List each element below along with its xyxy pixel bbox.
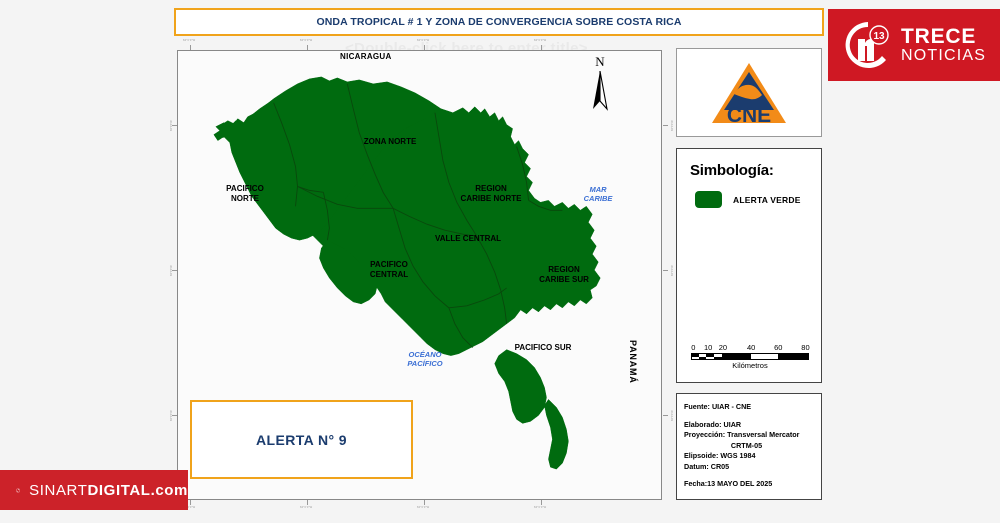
- credits-elaborado: Elaborado: UIAR: [684, 420, 815, 431]
- label-panama: PANAMÁ: [628, 340, 638, 384]
- trece-noticias-logo[interactable]: 13 TRECE NOTICIAS: [828, 9, 1000, 81]
- map-axis-tick-right: [663, 270, 668, 271]
- map-scalebar: 0 10 20 40 60 80 Kilómetros: [691, 343, 809, 370]
- map-axis-label-bottom: 84°0'0"W: [534, 506, 546, 509]
- credits-proyeccion: Proyección: Transversal Mercator: [684, 430, 815, 441]
- scalebar-bar: [691, 353, 809, 360]
- scalebar-unit-label: Kilómetros: [691, 361, 809, 370]
- map-axis-tick-bottom: [190, 500, 191, 505]
- map-axis-label-top: 84°0'0"W: [534, 39, 546, 42]
- label-pacifico-central: PACIFICO CENTRAL: [356, 260, 422, 280]
- sinart-wordmark: SINARTDIGITAL.com: [29, 482, 188, 499]
- cne-triangle-icon: CNE: [710, 60, 788, 126]
- north-arrow: N: [585, 55, 615, 111]
- sinart-swirl-icon: [16, 478, 20, 503]
- sinart-part1: SINART: [29, 482, 87, 499]
- sinart-digital-logo[interactable]: SINARTDIGITAL.com: [0, 470, 188, 510]
- map-axis-tick-bottom: [424, 500, 425, 505]
- map-axis-label-left: 84°0'0"W: [170, 265, 173, 276]
- legend-swatch-alerta-verde: [695, 191, 722, 208]
- trece-noticias-wordmark: TRECE NOTICIAS: [901, 26, 986, 64]
- map-axis-label-bottom: 84°0'0"W: [300, 506, 312, 509]
- scalebar-tick: 60: [774, 343, 782, 352]
- label-nicaragua: NICARAGUA: [340, 52, 392, 61]
- map-axis-tick-right: [663, 125, 668, 126]
- map-title-banner: ONDA TROPICAL # 1 Y ZONA DE CONVERGENCIA…: [174, 8, 824, 36]
- scalebar-tick-labels: 0 10 20 40 60 80: [691, 343, 809, 353]
- scalebar-tick: 0: [691, 343, 695, 352]
- credits-fecha: Fecha:13 MAYO DEL 2025: [684, 479, 815, 490]
- svg-text:13: 13: [873, 31, 885, 42]
- map-axis-label-right: 84°0'0"W: [671, 265, 674, 276]
- map-axis-tick-right: [663, 415, 668, 416]
- scalebar-tick: 20: [719, 343, 727, 352]
- legend-panel: Simbología: ALERTA VERDE 0 10 20 40 60 8…: [676, 148, 822, 383]
- label-pacifico-sur: PACIFICO SUR: [497, 343, 589, 353]
- map-axis-label-right: 84°0'0"W: [671, 410, 674, 421]
- scalebar-tick: 80: [801, 343, 809, 352]
- scalebar-tick: 40: [747, 343, 755, 352]
- sinart-part3: .com: [151, 482, 188, 499]
- credits-proyeccion-cont: CRTM-05: [684, 441, 815, 452]
- label-region-caribe-norte: REGION CARIBE NORTE: [448, 184, 534, 204]
- label-mar-caribe: MAR CARIBE: [570, 185, 626, 203]
- credits-datum: Datum: CR05: [684, 462, 815, 473]
- label-zona-norte: ZONA NORTE: [350, 137, 430, 147]
- map-axis-label-bottom: 84°0'0"W: [417, 506, 429, 509]
- alerta-number-text: ALERTA N° 9: [256, 432, 347, 448]
- label-region-caribe-sur: REGION CARIBE SUR: [522, 265, 606, 285]
- map-axis-label-top: 84°0'0"W: [183, 39, 195, 42]
- map-axis-tick-bottom: [307, 500, 308, 505]
- trece-line2: NOTICIAS: [901, 48, 986, 64]
- legend-title: Simbología:: [690, 162, 774, 179]
- map-axis-label-right: 84°0'0"W: [671, 120, 674, 131]
- map-axis-label-top: 84°0'0"W: [300, 39, 312, 42]
- sinart-part2: DIGITAL: [87, 482, 150, 499]
- north-arrow-icon: [589, 71, 611, 111]
- cne-logo-panel: CNE: [676, 48, 822, 137]
- trece-circle-icon: 13: [842, 19, 894, 71]
- label-pacifico-norte: PACIFICO NORTE: [213, 184, 277, 204]
- map-axis-label-left: 84°0'0"W: [170, 410, 173, 421]
- credits-fuente: Fuente: UIAR - CNE: [684, 402, 815, 413]
- credits-panel: Fuente: UIAR - CNE Elaborado: UIAR Proye…: [676, 393, 822, 500]
- map-axis-tick-bottom: [541, 500, 542, 505]
- map-axis-label-left: 84°0'0"W: [170, 120, 173, 131]
- map-axis-label-top: 84°0'0"W: [417, 39, 429, 42]
- scalebar-tick: 10: [704, 343, 712, 352]
- alerta-number-box: ALERTA N° 9: [190, 400, 413, 479]
- label-valle-central: VALLE CENTRAL: [420, 234, 516, 244]
- legend-label-alerta-verde: ALERTA VERDE: [733, 195, 801, 205]
- page-title: ONDA TROPICAL # 1 Y ZONA DE CONVERGENCIA…: [316, 16, 681, 28]
- north-arrow-letter: N: [585, 55, 615, 69]
- svg-text:CNE: CNE: [727, 104, 771, 126]
- trece-line1: TRECE: [901, 26, 986, 47]
- credits-elipsoide: Elipsoide: WGS 1984: [684, 451, 815, 462]
- label-oceano-pacifico: OCÉANO PACÍFICO: [394, 350, 456, 368]
